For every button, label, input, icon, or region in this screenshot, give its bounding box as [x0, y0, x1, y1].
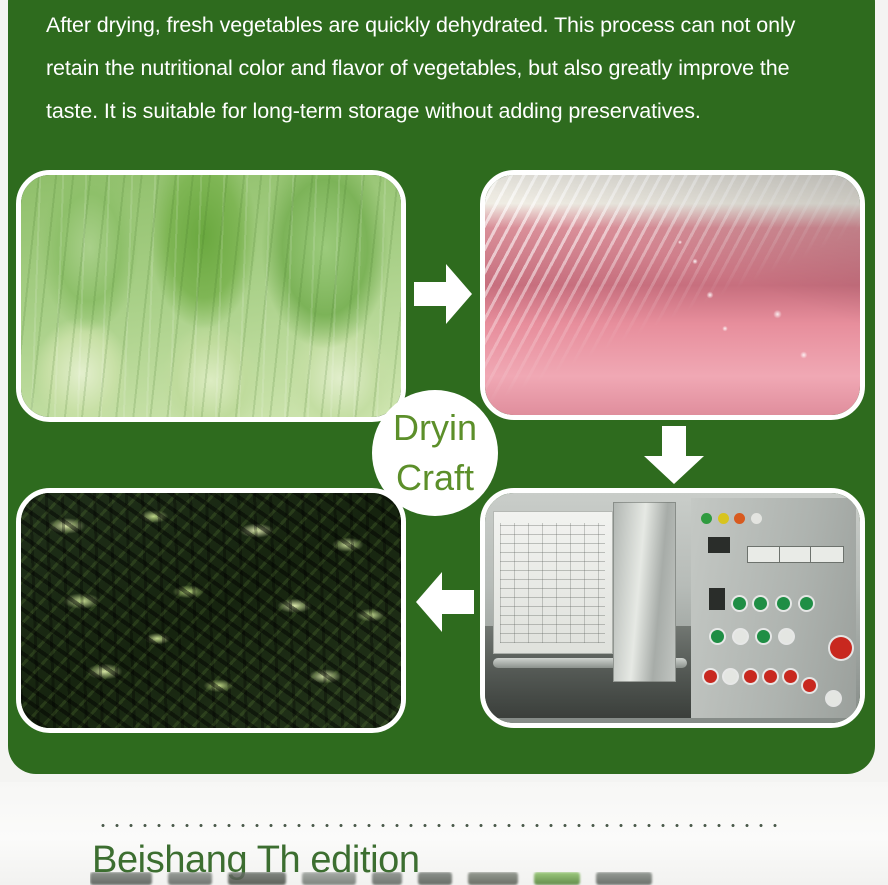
control-knob-red[interactable] — [784, 670, 797, 683]
machine-vent — [709, 588, 725, 610]
control-knob-red[interactable] — [764, 670, 777, 683]
control-knob-green[interactable] — [754, 597, 767, 610]
intro-paragraph: After drying, fresh vegetables are quick… — [46, 4, 846, 133]
arrow-down-icon — [638, 424, 710, 486]
digital-meter — [810, 546, 844, 563]
photo-fresh-vegetables — [16, 170, 406, 422]
process-badge-line-1: Dryin — [393, 402, 477, 454]
fresh-vegetables-image — [21, 175, 401, 417]
washing-image — [485, 175, 860, 415]
control-knob-white[interactable] — [827, 692, 840, 705]
thumbnail-item[interactable] — [90, 872, 152, 885]
thumbnail-item[interactable] — [372, 872, 402, 885]
control-knob-green[interactable] — [711, 630, 724, 643]
photo-washing — [480, 170, 865, 420]
thumbnail-item[interactable] — [534, 872, 580, 885]
dried-product-image — [21, 493, 401, 728]
thumbnail-item[interactable] — [418, 872, 452, 885]
control-knob-red[interactable] — [744, 670, 757, 683]
digital-meter — [747, 546, 781, 563]
thumbnail-item[interactable] — [168, 872, 212, 885]
product-detail-page: Fresh vegetables are selected from the p… — [0, 0, 888, 885]
thumbnail-item[interactable] — [596, 872, 652, 885]
control-knob-green[interactable] — [757, 630, 770, 643]
drying-machine-image — [485, 493, 860, 723]
machine-control-panel — [691, 498, 856, 719]
thumbnail-item[interactable] — [302, 872, 356, 885]
thumbnail-item[interactable] — [228, 872, 286, 885]
control-knob-green[interactable] — [777, 597, 790, 610]
arrow-left-icon — [414, 566, 476, 638]
thumbnail-item[interactable] — [468, 872, 518, 885]
emergency-stop-button[interactable] — [830, 637, 852, 659]
control-knob-green[interactable] — [800, 597, 813, 610]
photo-dried-product — [16, 488, 406, 733]
digital-meter — [779, 546, 813, 563]
indicator-lamp-orange — [734, 513, 745, 524]
machine-label-panel — [493, 511, 613, 654]
indicator-lamp-green — [701, 513, 712, 524]
control-knob-green[interactable] — [733, 597, 746, 610]
dotted-divider — [96, 822, 784, 829]
control-knob-white[interactable] — [724, 670, 737, 683]
control-knob-white[interactable] — [780, 630, 793, 643]
indicator-lamp-white — [751, 513, 762, 524]
indicator-lamp-yellow — [718, 513, 729, 524]
arrow-right-icon — [412, 258, 474, 330]
control-knob-red[interactable] — [704, 670, 717, 683]
process-badge-label: Dryin Craft — [372, 390, 498, 516]
control-knob-red[interactable] — [803, 679, 816, 692]
process-badge-line-2: Craft — [396, 452, 474, 504]
machine-vent — [708, 537, 730, 553]
photo-drying-machine — [480, 488, 865, 728]
footer-thumbnail-strip — [90, 872, 790, 885]
machine-door — [613, 502, 677, 681]
control-knob-white[interactable] — [734, 630, 747, 643]
